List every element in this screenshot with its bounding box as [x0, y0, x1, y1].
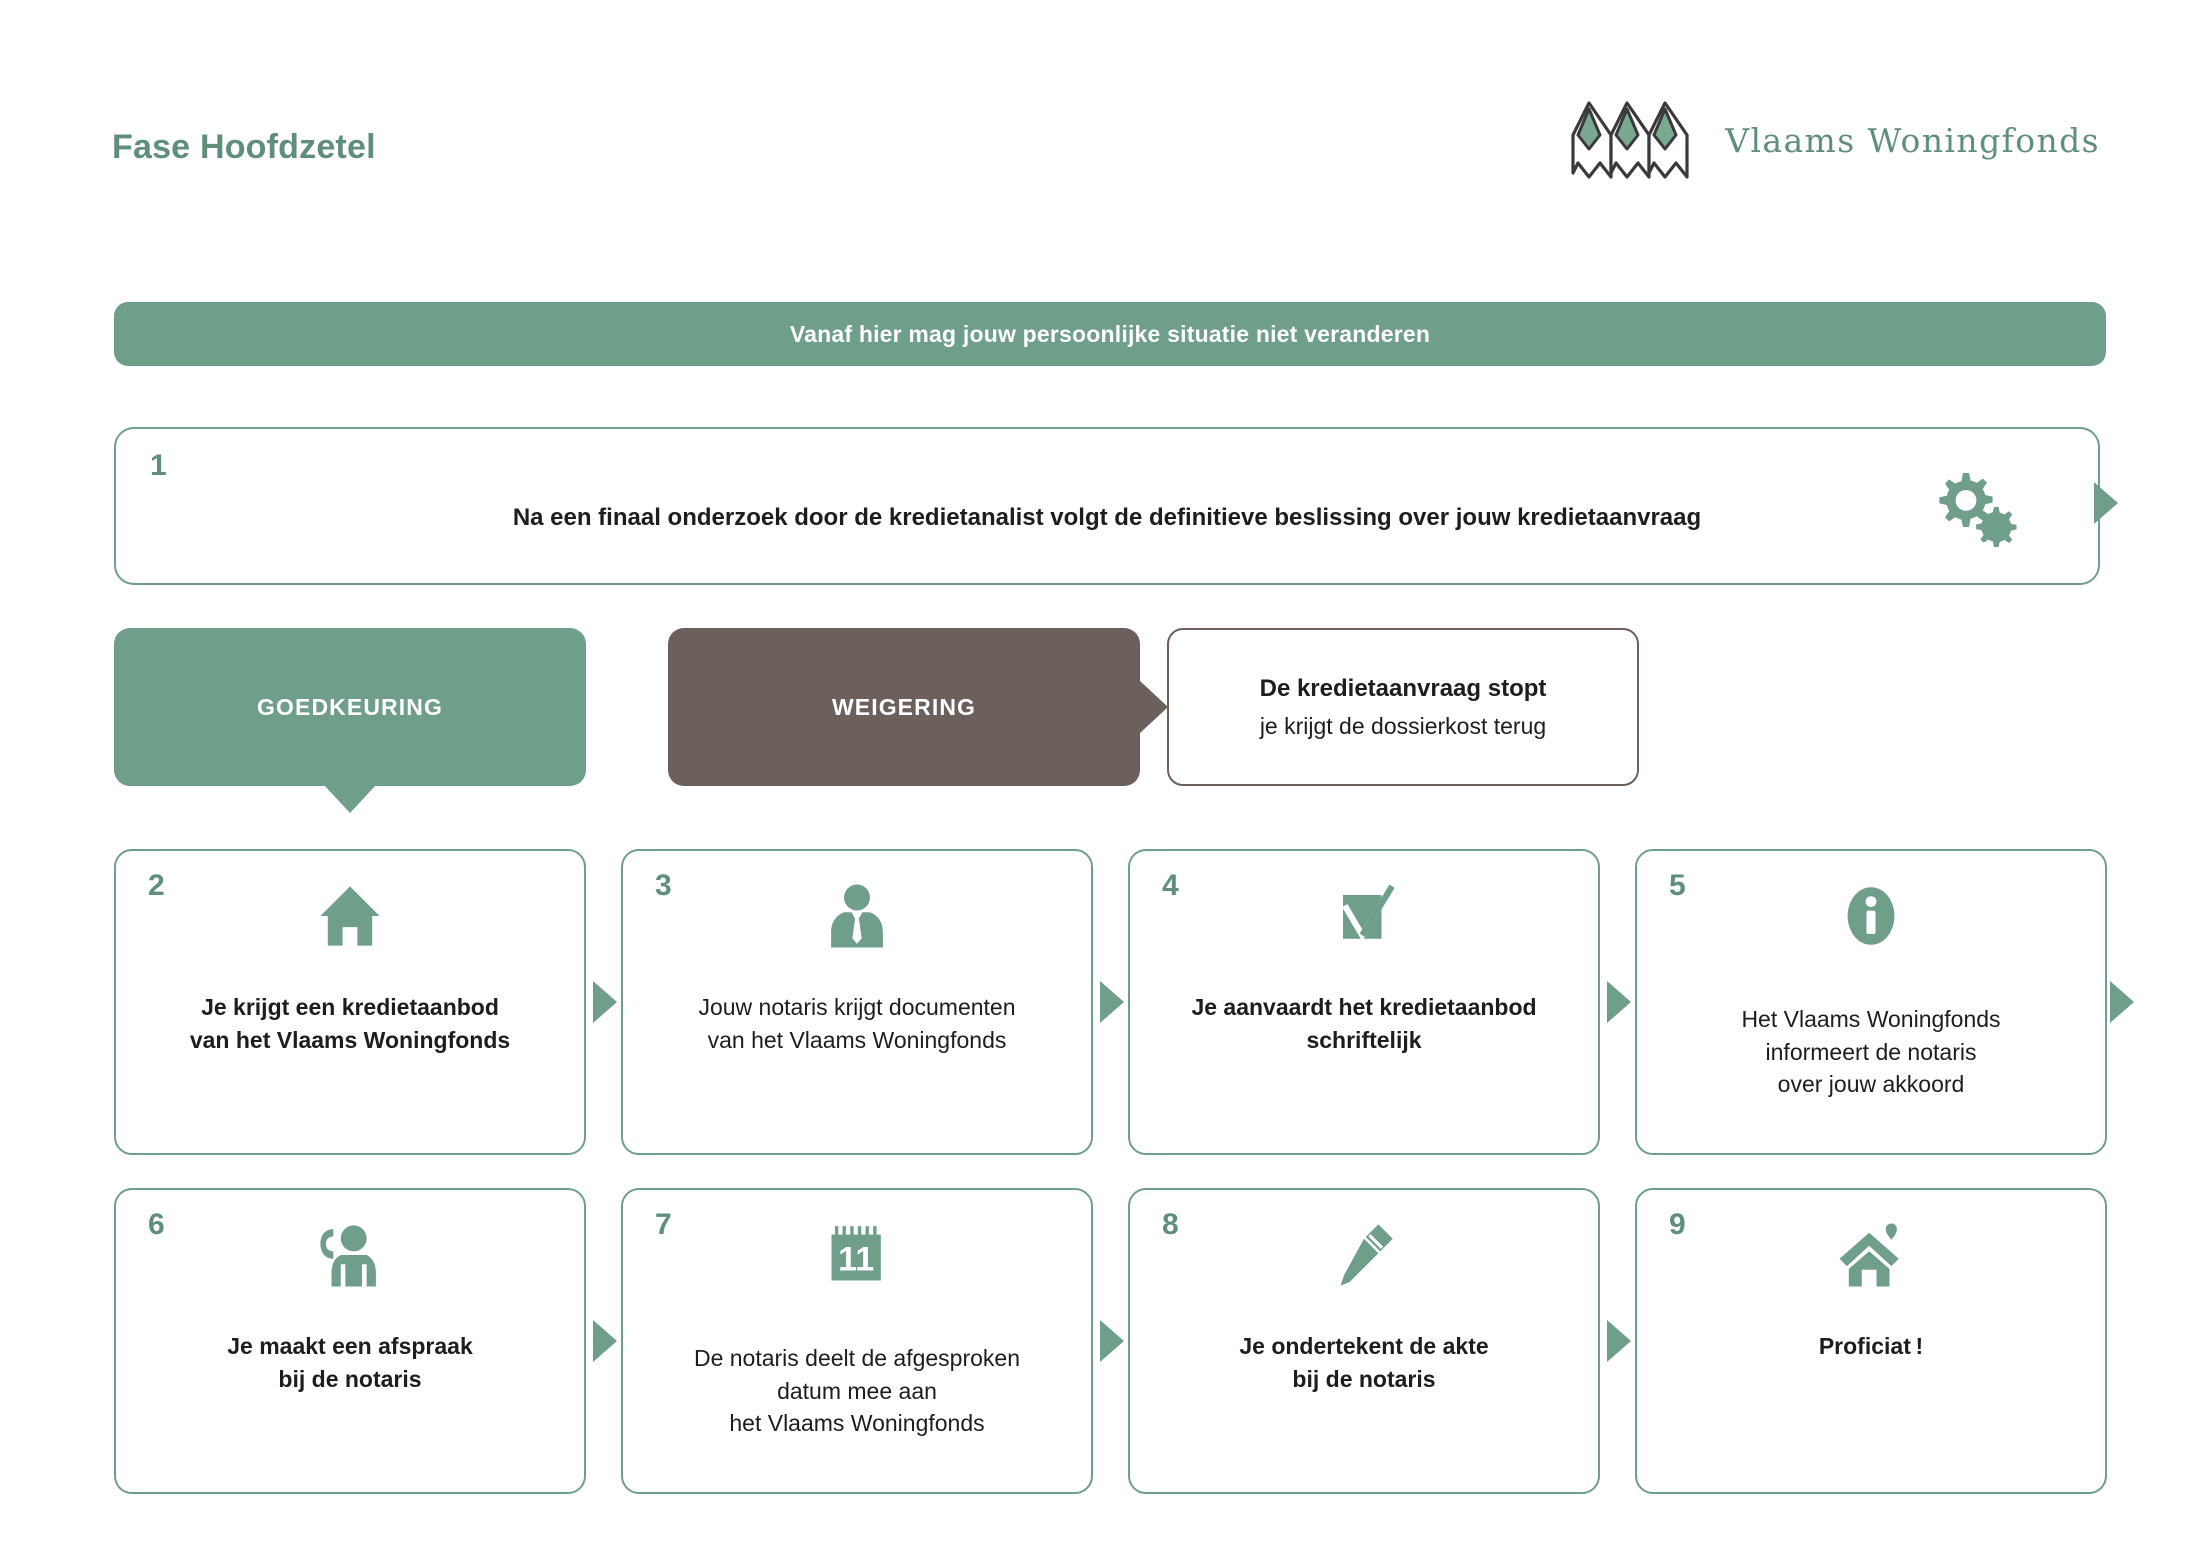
flow-arrow — [1100, 981, 1124, 1023]
flow-arrow — [1100, 1320, 1124, 1362]
refusal-label: WEIGERING — [832, 694, 976, 721]
stop-card: De kredietaanvraag stopt je krijgt de do… — [1167, 628, 1639, 786]
step-card-6: 6 Je maakt een afspraak bij de notaris — [114, 1188, 586, 1494]
stop-subtitle: je krijgt de dossierkost terug — [1260, 713, 1546, 740]
flow-arrow — [1607, 1320, 1631, 1362]
flow-arrow — [593, 981, 617, 1023]
person-phone-icon — [116, 1212, 584, 1298]
house-icon — [116, 873, 584, 959]
step-text: Je aanvaardt het kredietaanbod schriftel… — [1156, 991, 1572, 1056]
stop-title: De kredietaanvraag stopt — [1260, 675, 1547, 703]
warning-banner-text: Vanaf hier mag jouw persoonlijke situati… — [790, 321, 1430, 348]
checkmark-icon — [1130, 873, 1598, 959]
flow-arrow-step1 — [2094, 482, 2118, 524]
refusal-pointer — [1140, 681, 1168, 733]
page-title: Fase Hoofdzetel — [112, 128, 376, 167]
step-card-8: 8 Je ondertekent de akte bij de notaris — [1128, 1188, 1600, 1494]
calendar-icon: 11 — [623, 1212, 1091, 1298]
step-card-9: 9 Proficiat ! — [1635, 1188, 2107, 1494]
step-number: 1 — [150, 449, 167, 483]
gears-icon — [1930, 467, 2024, 551]
step-text: Het Vlaams Woningfonds informeert de not… — [1663, 1003, 2079, 1101]
step-text: De notaris deelt de afgesproken datum me… — [649, 1342, 1065, 1440]
refusal-pill: WEIGERING — [668, 628, 1140, 786]
step-card-5: 5 Het Vlaams Woningfonds informeert de n… — [1635, 849, 2107, 1155]
pen-icon — [1130, 1212, 1598, 1298]
brand-name: Vlaams Woningfonds — [1725, 121, 2100, 160]
approval-label: GOEDKEURING — [257, 694, 443, 721]
brand-block: Vlaams Woningfonds — [1567, 95, 2100, 185]
steps-row-bottom: 6 Je maakt een afspraak bij de notaris — [114, 1188, 2106, 1494]
house-heart-icon — [1637, 1212, 2105, 1298]
approval-pill: GOEDKEURING — [114, 628, 586, 786]
step-card-4: 4 Je aanvaardt het kredietaanbod schrift… — [1128, 849, 1600, 1155]
step-card-3: 3 Jouw notaris krijgt documenten van het… — [621, 849, 1093, 1155]
steps-row-top: 2 Je krijgt een kredietaanbod van het Vl… — [114, 849, 2106, 1155]
flow-arrow — [593, 1320, 617, 1362]
infographic-page: Fase Hoofdzetel Vlaams Woningfonds — [0, 0, 2200, 1556]
flow-arrow — [1607, 981, 1631, 1023]
page-header: Fase Hoofdzetel Vlaams Woningfonds — [0, 0, 2200, 210]
step-text: Proficiat ! — [1663, 1330, 2079, 1363]
info-icon — [1637, 873, 2105, 959]
step-text: Jouw notaris krijgt documenten van het V… — [649, 991, 1065, 1056]
step-card-7: 7 11 De notaris deelt de afges — [621, 1188, 1093, 1494]
approval-pointer — [324, 785, 376, 813]
step-card-2: 2 Je krijgt een kredietaanbod van het Vl… — [114, 849, 586, 1155]
decision-row: GOEDKEURING OF WEIGERING De kredietaanvr… — [114, 628, 2106, 828]
flow-arrow — [2110, 981, 2134, 1023]
calendar-day: 11 — [838, 1240, 874, 1278]
step-text: Je ondertekent de akte bij de notaris — [1156, 1330, 1572, 1395]
step-text: Je krijgt een kredietaanbod van het Vlaa… — [142, 991, 558, 1056]
step-text: Na een finaal onderzoek door de kredieta… — [116, 504, 2098, 532]
businessman-icon — [623, 873, 1091, 959]
step-text: Je maakt een afspraak bij de notaris — [142, 1330, 558, 1395]
step-card-1: 1 Na een finaal onderzoek door de kredie… — [114, 427, 2100, 585]
warning-banner: Vanaf hier mag jouw persoonlijke situati… — [114, 302, 2106, 366]
three-roofs-logo-icon — [1567, 95, 1695, 185]
